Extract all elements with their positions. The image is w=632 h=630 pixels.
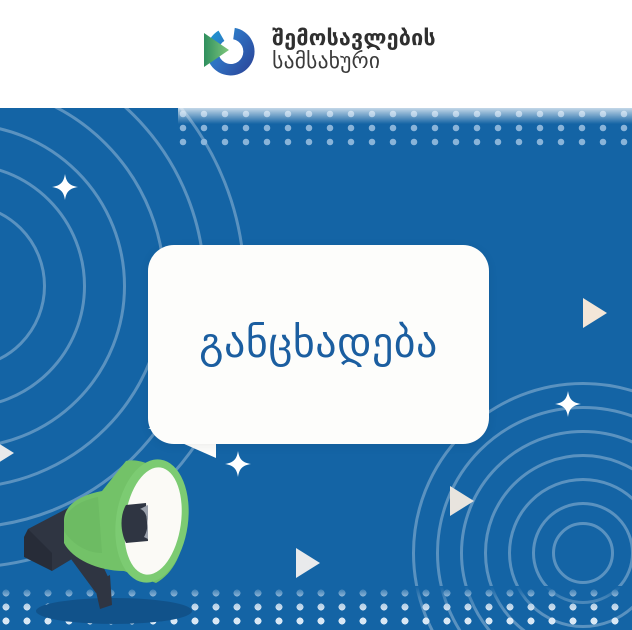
logo-org-line1: შემოსავლების bbox=[272, 28, 436, 50]
dot-grid-top-fade bbox=[178, 108, 632, 124]
logo-lockup: შემოსავლების სამსახური bbox=[196, 19, 436, 81]
announcement-poster: შემოსავლების სამსახური bbox=[0, 0, 632, 630]
announcement-title: განცხადება bbox=[199, 318, 438, 367]
logo-text: შემოსავლების სამსახური bbox=[272, 28, 436, 73]
play-triangle-icon-mid bbox=[450, 486, 474, 516]
logo-org-line2: სამსახური bbox=[272, 51, 436, 73]
sparkle-star-icon-right bbox=[555, 391, 581, 417]
speech-bubble: განცხადება bbox=[148, 245, 489, 444]
poster-canvas: განცხადება bbox=[0, 108, 632, 630]
play-triangle-icon-bottom bbox=[296, 548, 320, 578]
sparkle-star-icon-upper-left bbox=[52, 174, 78, 200]
play-triangle-icon-right-top bbox=[583, 298, 607, 328]
revenue-service-logo-icon bbox=[196, 19, 258, 81]
megaphone-icon bbox=[6, 443, 216, 628]
header-bar: შემოსავლების სამსახური bbox=[0, 0, 632, 108]
sparkle-star-icon-center bbox=[225, 451, 251, 477]
